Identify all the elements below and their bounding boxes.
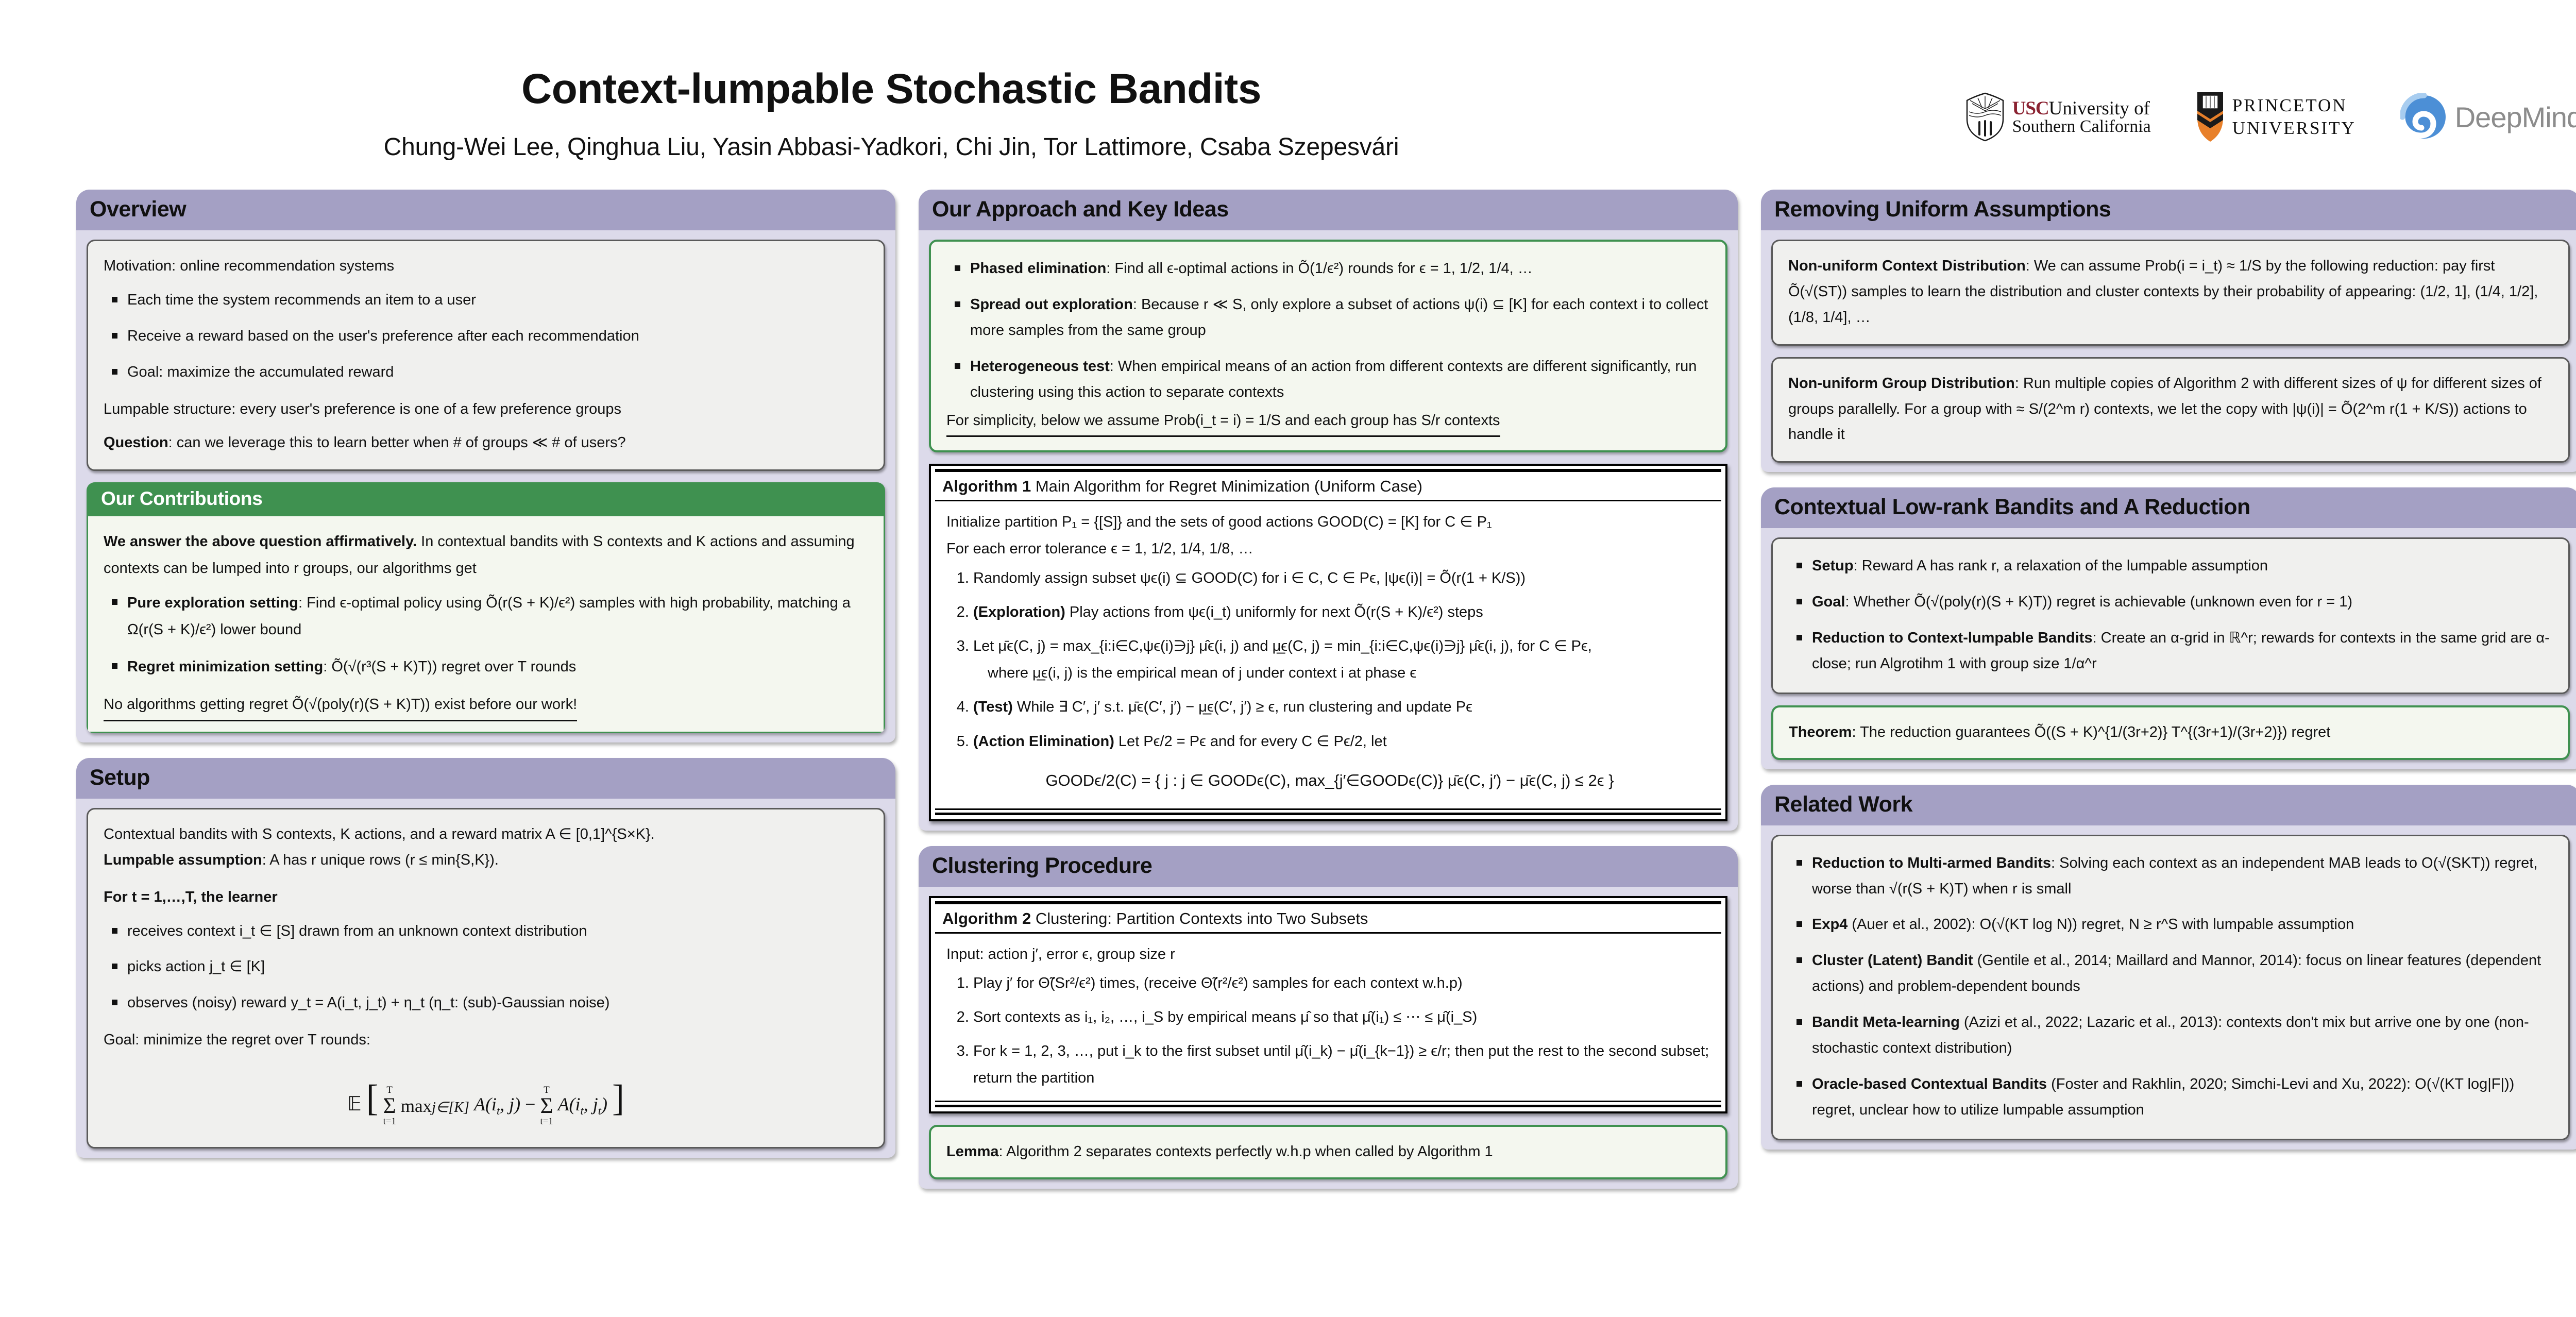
algo2-step-3: For k = 1, 2, 3, …, put i_k to the first… bbox=[973, 1038, 1713, 1091]
list-item: Spread out exploration: Because r ≪ S, o… bbox=[970, 292, 1710, 344]
algorithm-2-title: Algorithm 2 Clustering: Partition Contex… bbox=[931, 904, 1725, 932]
lemma-label: Lemma bbox=[946, 1143, 999, 1160]
lemma-box: Lemma: Algorithm 2 separates contexts pe… bbox=[929, 1125, 1727, 1179]
list-item: Heterogeneous test: When empirical means… bbox=[970, 354, 1710, 406]
list-item: receives context i_t ∈ [S] drawn from an… bbox=[127, 919, 868, 944]
subpanel-contributions-title: Our Contributions bbox=[87, 482, 885, 516]
bullet-text: : Find all ϵ-optimal actions in Õ(1/ϵ²) … bbox=[1106, 260, 1532, 277]
list-item: Phased elimination: Find all ϵ-optimal a… bbox=[970, 256, 1710, 282]
list-item: Regret minimization setting: Õ(√(r³(S + … bbox=[127, 654, 868, 681]
contributions-lead: We answer the above question affirmative… bbox=[104, 529, 868, 582]
algo1-for: For each error tolerance ϵ = 1, 1/2, 1/4… bbox=[946, 535, 1713, 562]
bullet-label: Spread out exploration bbox=[970, 296, 1133, 313]
algorithm-2-name: Algorithm 2 bbox=[942, 909, 1031, 927]
usc-logo: USCUniversity of Southern California bbox=[1965, 92, 2151, 142]
usc-initials: USC bbox=[2012, 98, 2049, 119]
algorithm-2-caption: Clustering: Partition Contexts into Two … bbox=[1031, 909, 1368, 927]
bullet-text: (Auer et al., 2002): O(√(KT log N)) regr… bbox=[1848, 916, 2354, 933]
panel-approach: Our Approach and Key Ideas Phased elimin… bbox=[919, 190, 1738, 831]
list-item: Each time the system recommends an item … bbox=[127, 288, 868, 313]
bullet-text: : Whether Õ(√(poly(r)(S + K)T)) regret i… bbox=[1845, 594, 2352, 610]
algorithm-2-steps: Play j′ for Θ̃(Sr²/ϵ²) times, (receive Θ… bbox=[946, 970, 1713, 1092]
panel-approach-title: Our Approach and Key Ideas bbox=[919, 190, 1738, 230]
bullet-label: Heterogeneous test bbox=[970, 358, 1110, 375]
usc-wordmark: USCUniversity of Southern California bbox=[2012, 99, 2151, 136]
algo1-step-3-cont: where μ̲ϵ(i, j) is the empirical mean of… bbox=[973, 660, 1416, 686]
author-list: Chung-Wei Lee, Qinghua Liu, Yasin Abbasi… bbox=[0, 133, 1783, 161]
list-item: observes (noisy) reward y_t = A(i_t, j_t… bbox=[127, 990, 868, 1016]
nonuniform-group-box: Non-uniform Group Distribution: Run mult… bbox=[1771, 357, 2570, 463]
algo1-step-2: (Exploration) Play actions from ψϵ(i_t) … bbox=[973, 599, 1713, 626]
approach-footnote-wrap: For simplicity, below we assume Prob(i_t… bbox=[946, 408, 1710, 437]
usc-shield-icon bbox=[1965, 92, 2005, 142]
approach-content-box: Phased elimination: Find all ϵ-optimal a… bbox=[929, 240, 1727, 452]
bullet-label: Phased elimination bbox=[970, 260, 1106, 277]
panel-overview: Overview Motivation: online recommendati… bbox=[76, 190, 895, 742]
bullet-label: Setup bbox=[1812, 558, 1854, 574]
overview-lumpable-structure: Lumpable structure: every user's prefere… bbox=[104, 397, 868, 423]
logo-strip: USCUniversity of Southern California PRI… bbox=[1965, 90, 2576, 144]
panel-overview-title: Overview bbox=[76, 190, 895, 230]
algo1-init: Initialize partition P₁ = {[S]} and the … bbox=[946, 509, 1713, 535]
algo1-step-5-text: Let Pϵ/2 = Pϵ and for every C ∈ Pϵ/2, le… bbox=[1114, 733, 1387, 750]
bullet-label: Bandit Meta-learning bbox=[1812, 1014, 1960, 1031]
setup-bullet-list: receives context i_t ∈ [S] drawn from an… bbox=[104, 919, 868, 1017]
setup-regret-formula: 𝔼 [ TΣt=1 maxj∈[K] A(it, j) − TΣt=1 A(it… bbox=[104, 1067, 868, 1130]
bullet-label: Regret minimization setting bbox=[127, 659, 323, 675]
deepmind-logo: DeepMind bbox=[2400, 93, 2576, 141]
bullet-label: Cluster (Latent) Bandit bbox=[1812, 952, 1973, 969]
overview-question: Question: can we leverage this to learn … bbox=[104, 430, 868, 456]
algo2-step-2: Sort contexts as i₁, i₂, …, i_S by empir… bbox=[973, 1004, 1713, 1031]
bullet-label: Pure exploration setting bbox=[127, 595, 298, 611]
title-block: Context-lumpable Stochastic Bandits Chun… bbox=[0, 0, 1783, 161]
princeton-shield-icon bbox=[2195, 90, 2225, 144]
panel-lowrank: Contextual Low-rank Bandits and A Reduct… bbox=[1761, 487, 2576, 769]
bullet-label: Reduction to Multi-armed Bandits bbox=[1812, 855, 2051, 871]
bullet-label: Goal bbox=[1812, 594, 1845, 610]
setup-assumption-text: : A has r unique rows (r ≤ min{S,K}). bbox=[262, 852, 499, 868]
algo2-step-1: Play j′ for Θ̃(Sr²/ϵ²) times, (receive Θ… bbox=[973, 970, 1713, 997]
algorithm-1-title: Algorithm 1 Main Algorithm for Regret Mi… bbox=[931, 472, 1725, 500]
nonuniform-group-label: Non-uniform Group Distribution bbox=[1788, 375, 2015, 392]
panel-related-work: Related Work Reduction to Multi-armed Ba… bbox=[1761, 785, 2576, 1150]
approach-bullet-list: Phased elimination: Find all ϵ-optimal a… bbox=[946, 256, 1710, 405]
deepmind-swirl-icon bbox=[2400, 93, 2448, 141]
contributions-footnote: No algorithms getting regret Õ(√(poly(r)… bbox=[104, 691, 577, 721]
princeton-line2: UNIVERSITY bbox=[2232, 117, 2356, 140]
theorem-box: Theorem: The reduction guarantees Õ((S +… bbox=[1771, 705, 2570, 760]
algo1-step-5-label: (Action Elimination) bbox=[973, 733, 1114, 750]
bullet-label: Exp4 bbox=[1812, 916, 1848, 933]
panel-removing-uniform: Removing Uniform Assumptions Non-uniform… bbox=[1761, 190, 2576, 472]
algo1-step-2-label: (Exploration) bbox=[973, 604, 1065, 620]
usc-line2: Southern California bbox=[2012, 118, 2151, 136]
algo1-step-4: (Test) While ∃ C′, j′ s.t. μ̄ϵ(C′, j′) −… bbox=[973, 694, 1713, 720]
poster-columns: Overview Motivation: online recommendati… bbox=[76, 190, 2576, 1189]
list-item: Exp4 (Auer et al., 2002): O(√(KT log N))… bbox=[1812, 912, 2553, 938]
subpanel-contributions-body: We answer the above question affirmative… bbox=[87, 516, 885, 733]
algo2-input: Input: action j′, error ϵ, group size r bbox=[946, 941, 1713, 968]
algorithm-2-body: Input: action j′, error ϵ, group size r … bbox=[931, 934, 1725, 1098]
related-work-content-box: Reduction to Multi-armed Bandits: Solvin… bbox=[1771, 835, 2570, 1140]
list-item: Reduction to Multi-armed Bandits: Solvin… bbox=[1812, 851, 2553, 902]
column-middle: Our Approach and Key Ideas Phased elimin… bbox=[919, 190, 1738, 1189]
nonuniform-context-label: Non-uniform Context Distribution bbox=[1788, 258, 2026, 274]
algo1-step-4-label: (Test) bbox=[973, 699, 1013, 715]
algo2-rule-bot bbox=[935, 1101, 1721, 1102]
overview-question-label: Question bbox=[104, 434, 168, 451]
column-right: Removing Uniform Assumptions Non-uniform… bbox=[1761, 190, 2576, 1189]
panel-clustering: Clustering Procedure Algorithm 2 Cluster… bbox=[919, 846, 1738, 1189]
algorithm-2-box: Algorithm 2 Clustering: Partition Contex… bbox=[929, 896, 1727, 1114]
bullet-text: : Õ(√(r³(S + K)T)) regret over T rounds bbox=[323, 659, 576, 675]
bullet-label: Oracle-based Contextual Bandits bbox=[1812, 1076, 2047, 1092]
panel-lowrank-title: Contextual Low-rank Bandits and A Reduct… bbox=[1761, 487, 2576, 528]
algo1-rule-bot bbox=[935, 808, 1721, 810]
lemma-text: : Algorithm 2 separates contexts perfect… bbox=[999, 1143, 1493, 1160]
usc-line1: University of bbox=[2049, 98, 2150, 119]
bullet-text: : Reward A has rank r, a relaxation of t… bbox=[1854, 558, 2268, 574]
princeton-line1: PRINCETON bbox=[2232, 94, 2356, 117]
algorithm-1-name: Algorithm 1 bbox=[942, 477, 1031, 495]
nonuniform-context-box: Non-uniform Context Distribution: We can… bbox=[1771, 240, 2570, 346]
algorithm-1-steps: Randomly assign subset ψϵ(i) ⊆ GOOD(C) f… bbox=[946, 565, 1713, 755]
theorem-text: : The reduction guarantees Õ((S + K)^{1/… bbox=[1852, 724, 2330, 740]
list-item: Reduction to Context-lumpable Bandits: C… bbox=[1812, 626, 2553, 677]
list-item: Cluster (Latent) Bandit (Gentile et al.,… bbox=[1812, 948, 2553, 1000]
overview-content-box: Motivation: online recommendation system… bbox=[87, 240, 885, 471]
theorem-label: Theorem bbox=[1789, 724, 1852, 740]
column-left: Overview Motivation: online recommendati… bbox=[76, 190, 895, 1189]
list-item: Setup: Reward A has rank r, a relaxation… bbox=[1812, 553, 2553, 579]
setup-assumption-label: Lumpable assumption bbox=[104, 852, 262, 868]
panel-clustering-title: Clustering Procedure bbox=[919, 846, 1738, 887]
list-item: Bandit Meta-learning (Azizi et al., 2022… bbox=[1812, 1010, 2553, 1061]
list-item: Pure exploration setting: Find ϵ-optimal… bbox=[127, 590, 868, 643]
algo1-rule-bot2 bbox=[935, 813, 1721, 815]
algorithm-1-box: Algorithm 1 Main Algorithm for Regret Mi… bbox=[929, 464, 1727, 821]
subpanel-contributions: Our Contributions We answer the above qu… bbox=[87, 482, 885, 733]
algo1-step-5: (Action Elimination) Let Pϵ/2 = Pϵ and f… bbox=[973, 728, 1713, 755]
algo1-good-formula: GOODϵ/2(C) = { j : j ∈ GOODϵ(C), max_{j′… bbox=[946, 766, 1713, 795]
overview-bullet-list: Each time the system recommends an item … bbox=[104, 288, 868, 385]
poster-header: Context-lumpable Stochastic Bandits Chun… bbox=[0, 0, 2576, 185]
list-item: picks action j_t ∈ [K] bbox=[127, 954, 868, 980]
list-item: Goal: Whether Õ(√(poly(r)(S + K)T)) regr… bbox=[1812, 589, 2553, 615]
related-work-bullet-list: Reduction to Multi-armed Bandits: Solvin… bbox=[1788, 851, 2553, 1123]
princeton-wordmark: PRINCETON UNIVERSITY bbox=[2232, 94, 2356, 140]
overview-question-text: : can we leverage this to learn better w… bbox=[168, 434, 626, 451]
panel-setup: Setup Contextual bandits with S contexts… bbox=[76, 758, 895, 1158]
lowrank-content-box: Setup: Reward A has rank r, a relaxation… bbox=[1771, 537, 2570, 694]
contributions-footnote-wrap: No algorithms getting regret Õ(√(poly(r)… bbox=[104, 691, 868, 721]
approach-footnote: For simplicity, below we assume Prob(i_t… bbox=[946, 408, 1500, 437]
panel-setup-title: Setup bbox=[76, 758, 895, 799]
algo1-step-3: Let μ̄ϵ(C, j) = max_{i:i∈C,ψϵ(i)∋j} μ̂ϵ(… bbox=[973, 633, 1713, 686]
algorithm-1-body: Initialize partition P₁ = {[S]} and the … bbox=[931, 501, 1725, 805]
algo1-step-1: Randomly assign subset ψϵ(i) ⊆ GOOD(C) f… bbox=[973, 565, 1713, 592]
panel-removing-uniform-title: Removing Uniform Assumptions bbox=[1761, 190, 2576, 230]
princeton-logo: PRINCETON UNIVERSITY bbox=[2195, 90, 2356, 144]
overview-motivation: Motivation: online recommendation system… bbox=[104, 254, 868, 279]
page-title: Context-lumpable Stochastic Bandits bbox=[0, 67, 1783, 111]
setup-content-box: Contextual bandits with S contexts, K ac… bbox=[87, 808, 885, 1149]
algo1-step-3-text: Let μ̄ϵ(C, j) = max_{i:i∈C,ψϵ(i)∋j} μ̂ϵ(… bbox=[973, 638, 1592, 654]
algo1-step-2-text: Play actions from ψϵ(i_t) uniformly for … bbox=[1065, 604, 1483, 620]
setup-goal: Goal: minimize the regret over T rounds: bbox=[104, 1027, 868, 1053]
lowrank-bullet-list: Setup: Reward A has rank r, a relaxation… bbox=[1788, 553, 2553, 677]
list-item: Goal: maximize the accumulated reward bbox=[127, 360, 868, 385]
list-item: Oracle-based Contextual Bandits (Foster … bbox=[1812, 1072, 2553, 1123]
setup-for-label-text: For t = 1,…,T, the learner bbox=[104, 889, 278, 905]
algorithm-1-caption: Main Algorithm for Regret Minimization (… bbox=[1031, 477, 1422, 495]
deepmind-wordmark: DeepMind bbox=[2455, 100, 2576, 134]
bullet-label: Reduction to Context-lumpable Bandits bbox=[1812, 630, 2093, 646]
setup-for-label: For t = 1,…,T, the learner bbox=[104, 885, 868, 910]
setup-assumption: Lumpable assumption: A has r unique rows… bbox=[104, 848, 868, 873]
panel-related-work-title: Related Work bbox=[1761, 785, 2576, 825]
list-item: Receive a reward based on the user's pre… bbox=[127, 324, 868, 349]
contributions-lead-bold: We answer the above question affirmative… bbox=[104, 533, 417, 550]
algo2-rule-bot2 bbox=[935, 1105, 1721, 1107]
algo1-step-4-text: While ∃ C′, j′ s.t. μ̄ϵ(C′, j′) − μ̲ϵ(C′… bbox=[1013, 699, 1472, 715]
setup-line1: Contextual bandits with S contexts, K ac… bbox=[104, 822, 868, 848]
contributions-bullet-list: Pure exploration setting: Find ϵ-optimal… bbox=[104, 590, 868, 680]
